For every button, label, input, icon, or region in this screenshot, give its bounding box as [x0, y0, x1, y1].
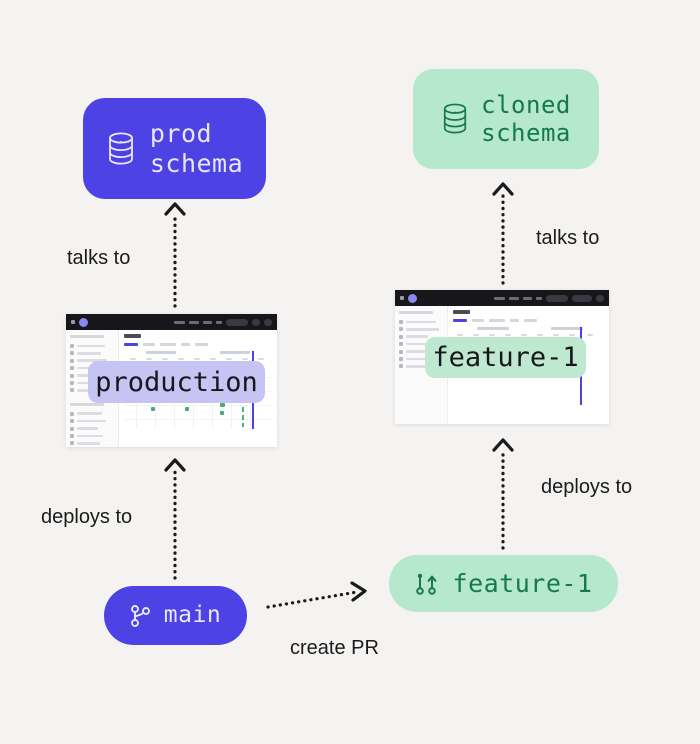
branch-icon [70, 366, 74, 370]
sidebar-item[interactable] [70, 351, 114, 355]
tab[interactable] [489, 319, 505, 322]
header-pill[interactable] [252, 319, 260, 326]
header-pill[interactable] [572, 295, 592, 302]
edge-label-deploys-to-right: deploys to [541, 476, 632, 499]
branch-icon [70, 381, 74, 385]
pull-request-icon [415, 571, 439, 597]
branch-icon [70, 434, 74, 438]
sidebar-item[interactable] [70, 434, 114, 438]
branch-icon [70, 374, 74, 378]
node-feature-branch[interactable]: feature-1 [389, 555, 618, 612]
group-header [220, 351, 250, 354]
tab[interactable] [124, 343, 138, 346]
menu-icon[interactable] [71, 320, 75, 324]
tab[interactable] [143, 343, 155, 346]
header-pill[interactable] [226, 319, 248, 326]
app-header [395, 290, 609, 306]
branch-icon [70, 344, 74, 348]
nav-item[interactable] [203, 321, 212, 324]
nav-item[interactable] [189, 321, 199, 324]
git-branch-icon [130, 604, 152, 628]
branch-icon [70, 359, 74, 363]
sidebar-item[interactable] [70, 412, 114, 416]
tab[interactable] [472, 319, 484, 322]
sidebar-item[interactable] [70, 419, 114, 423]
content-tabs[interactable] [453, 319, 605, 322]
nav-item[interactable] [216, 321, 222, 324]
node-prod-schema[interactable]: prod schema [83, 98, 266, 199]
group-header [551, 327, 583, 330]
nav-item[interactable] [523, 297, 532, 300]
tab[interactable] [181, 343, 190, 346]
sidebar-item[interactable] [399, 327, 443, 331]
group-header [477, 327, 509, 330]
branch-icon [70, 419, 74, 423]
node-label: prod schema [150, 119, 243, 178]
sidebar-item[interactable] [70, 427, 114, 431]
tab[interactable] [524, 319, 537, 322]
sidebar-item[interactable] [70, 441, 114, 445]
branch-icon [399, 320, 403, 324]
branch-icon [70, 388, 74, 392]
branch-icon [70, 412, 74, 416]
nav-item[interactable] [494, 297, 505, 300]
arrow-talks-to-left [166, 204, 184, 306]
node-label: cloned schema [481, 91, 571, 148]
nav-item[interactable] [174, 321, 185, 324]
branch-icon [399, 364, 403, 368]
avatar[interactable] [264, 319, 272, 326]
badge-label: production [95, 367, 258, 398]
arrow-deploys-to-left [166, 460, 184, 578]
content-tabs[interactable] [124, 343, 273, 346]
node-label: feature-1 [453, 569, 593, 599]
branch-icon [70, 441, 74, 445]
branch-icon [399, 350, 403, 354]
arrow-create-pr [268, 583, 365, 607]
branch-icon [70, 351, 74, 355]
tab[interactable] [510, 319, 519, 322]
nav-item[interactable] [536, 297, 542, 300]
avatar[interactable] [596, 295, 604, 302]
sidebar-heading [70, 403, 104, 406]
arrow-deploys-to-right [494, 440, 512, 548]
app-logo [408, 294, 417, 303]
app-logo [79, 318, 88, 327]
content-title [453, 310, 470, 314]
tab[interactable] [160, 343, 176, 346]
edge-label-talks-to-right: talks to [536, 227, 599, 250]
database-icon [441, 102, 469, 136]
branch-icon [70, 427, 74, 431]
node-cloned-schema[interactable]: cloned schema [413, 69, 599, 169]
badge-production: production [88, 361, 265, 403]
edge-label-deploys-to-left: deploys to [41, 506, 132, 529]
sidebar-item[interactable] [70, 344, 114, 348]
tab[interactable] [453, 319, 467, 322]
menu-icon[interactable] [400, 296, 404, 300]
content-title [124, 334, 141, 338]
sidebar-heading [399, 311, 433, 314]
branch-icon [399, 342, 403, 346]
sidebar-item[interactable] [399, 320, 443, 324]
badge-feature: feature-1 [425, 337, 586, 378]
diagram-canvas: prod schema cloned schema main [0, 0, 700, 744]
arrow-talks-to-right [494, 184, 512, 283]
node-main-branch[interactable]: main [104, 586, 247, 645]
edge-label-create-pr: create PR [290, 637, 379, 660]
node-label: main [164, 602, 221, 629]
group-header [146, 351, 176, 354]
badge-label: feature-1 [432, 342, 578, 373]
sidebar-heading [70, 335, 104, 338]
database-icon [106, 132, 136, 166]
tab[interactable] [195, 343, 208, 346]
app-header [66, 314, 277, 330]
branch-icon [399, 327, 403, 331]
header-pill[interactable] [546, 295, 568, 302]
nav-item[interactable] [509, 297, 519, 300]
branch-icon [399, 357, 403, 361]
branch-icon [399, 335, 403, 339]
edge-label-talks-to-left: talks to [67, 247, 130, 270]
